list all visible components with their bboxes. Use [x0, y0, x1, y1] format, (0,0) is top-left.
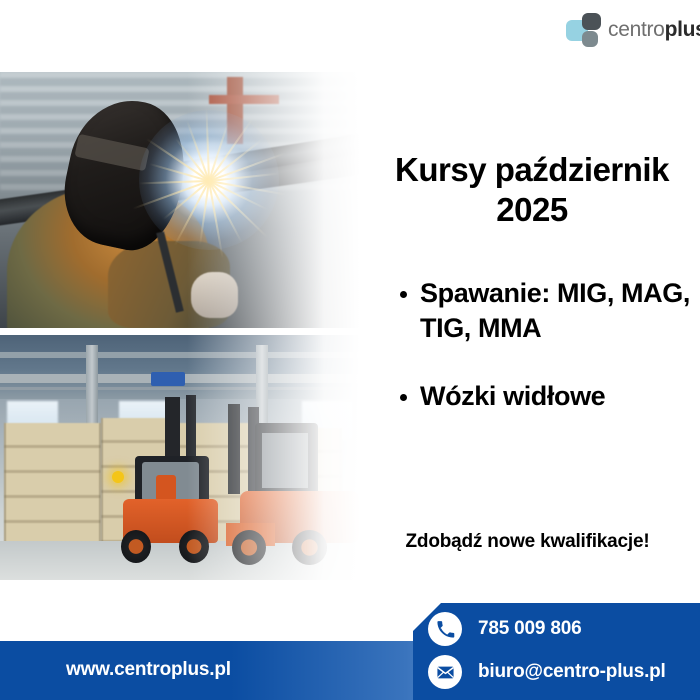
- logo-square-dark-bottom: [582, 31, 598, 47]
- page-title: Kursy październik 2025: [372, 150, 692, 229]
- forklift-right-wheel-rear: [292, 530, 327, 566]
- pallet-stack-1: [4, 423, 102, 550]
- envelope-icon: [428, 655, 462, 689]
- forklift-left-seat: [156, 475, 177, 500]
- welder-glove: [191, 272, 238, 318]
- tagline: Zdobądź nowe kwalifikacje!: [360, 531, 695, 553]
- forklift-photo: [0, 335, 360, 580]
- welding-red-beam: [209, 95, 279, 104]
- contact-phone-row[interactable]: 785 009 806: [428, 612, 581, 646]
- forklift-left-wheel-rear: [179, 530, 209, 563]
- forklift-right: [223, 404, 360, 566]
- phone-icon: [428, 612, 462, 646]
- contact-email-address: biuro@centro-plus.pl: [478, 661, 666, 683]
- course-list: Spawanie: MIG, MAG, TIG, MMA Wózki widło…: [398, 276, 700, 448]
- poster-canvas: centroplus: [0, 0, 700, 700]
- logo-square-dark-top: [582, 13, 601, 30]
- brand-logo-text: centroplus: [608, 18, 700, 42]
- contact-email-row[interactable]: biuro@centro-plus.pl: [428, 655, 666, 689]
- forklift-photo-scene: [0, 335, 360, 580]
- forklift-right-cab-glass: [262, 433, 308, 488]
- contact-panel: 785 009 806 biuro@centro-plus.pl: [413, 603, 700, 700]
- forklift-right-wheel-front: [232, 530, 267, 566]
- contact-phone-number: 785 009 806: [478, 618, 581, 640]
- forklift-left-wheel-front: [121, 530, 151, 563]
- warehouse-ceiling: [0, 335, 360, 399]
- footer-website-url[interactable]: www.centroplus.pl: [66, 659, 231, 681]
- welding-photo: [0, 72, 360, 328]
- forklift-right-mast: [228, 404, 241, 495]
- brand-logo-text-centro: centro: [608, 18, 665, 41]
- welding-arc-flash: [139, 110, 279, 250]
- page-title-line-2: 2025: [372, 190, 692, 230]
- centroplus-squares-logo-icon: [566, 12, 606, 50]
- list-item: Spawanie: MIG, MAG, TIG, MMA: [420, 276, 700, 345]
- warehouse-crane-hoist: [151, 372, 185, 386]
- welding-photo-scene: [0, 72, 360, 328]
- brand-logo[interactable]: centroplus: [566, 10, 691, 52]
- forklift-left: [119, 433, 234, 560]
- brand-logo-text-plus: plus: [665, 18, 700, 41]
- page-title-line-1: Kursy październik: [372, 150, 692, 190]
- forklift-left-beacon-lamp: [112, 471, 124, 483]
- list-item: Wózki widłowe: [420, 379, 700, 414]
- warehouse-beam-upper: [0, 352, 360, 358]
